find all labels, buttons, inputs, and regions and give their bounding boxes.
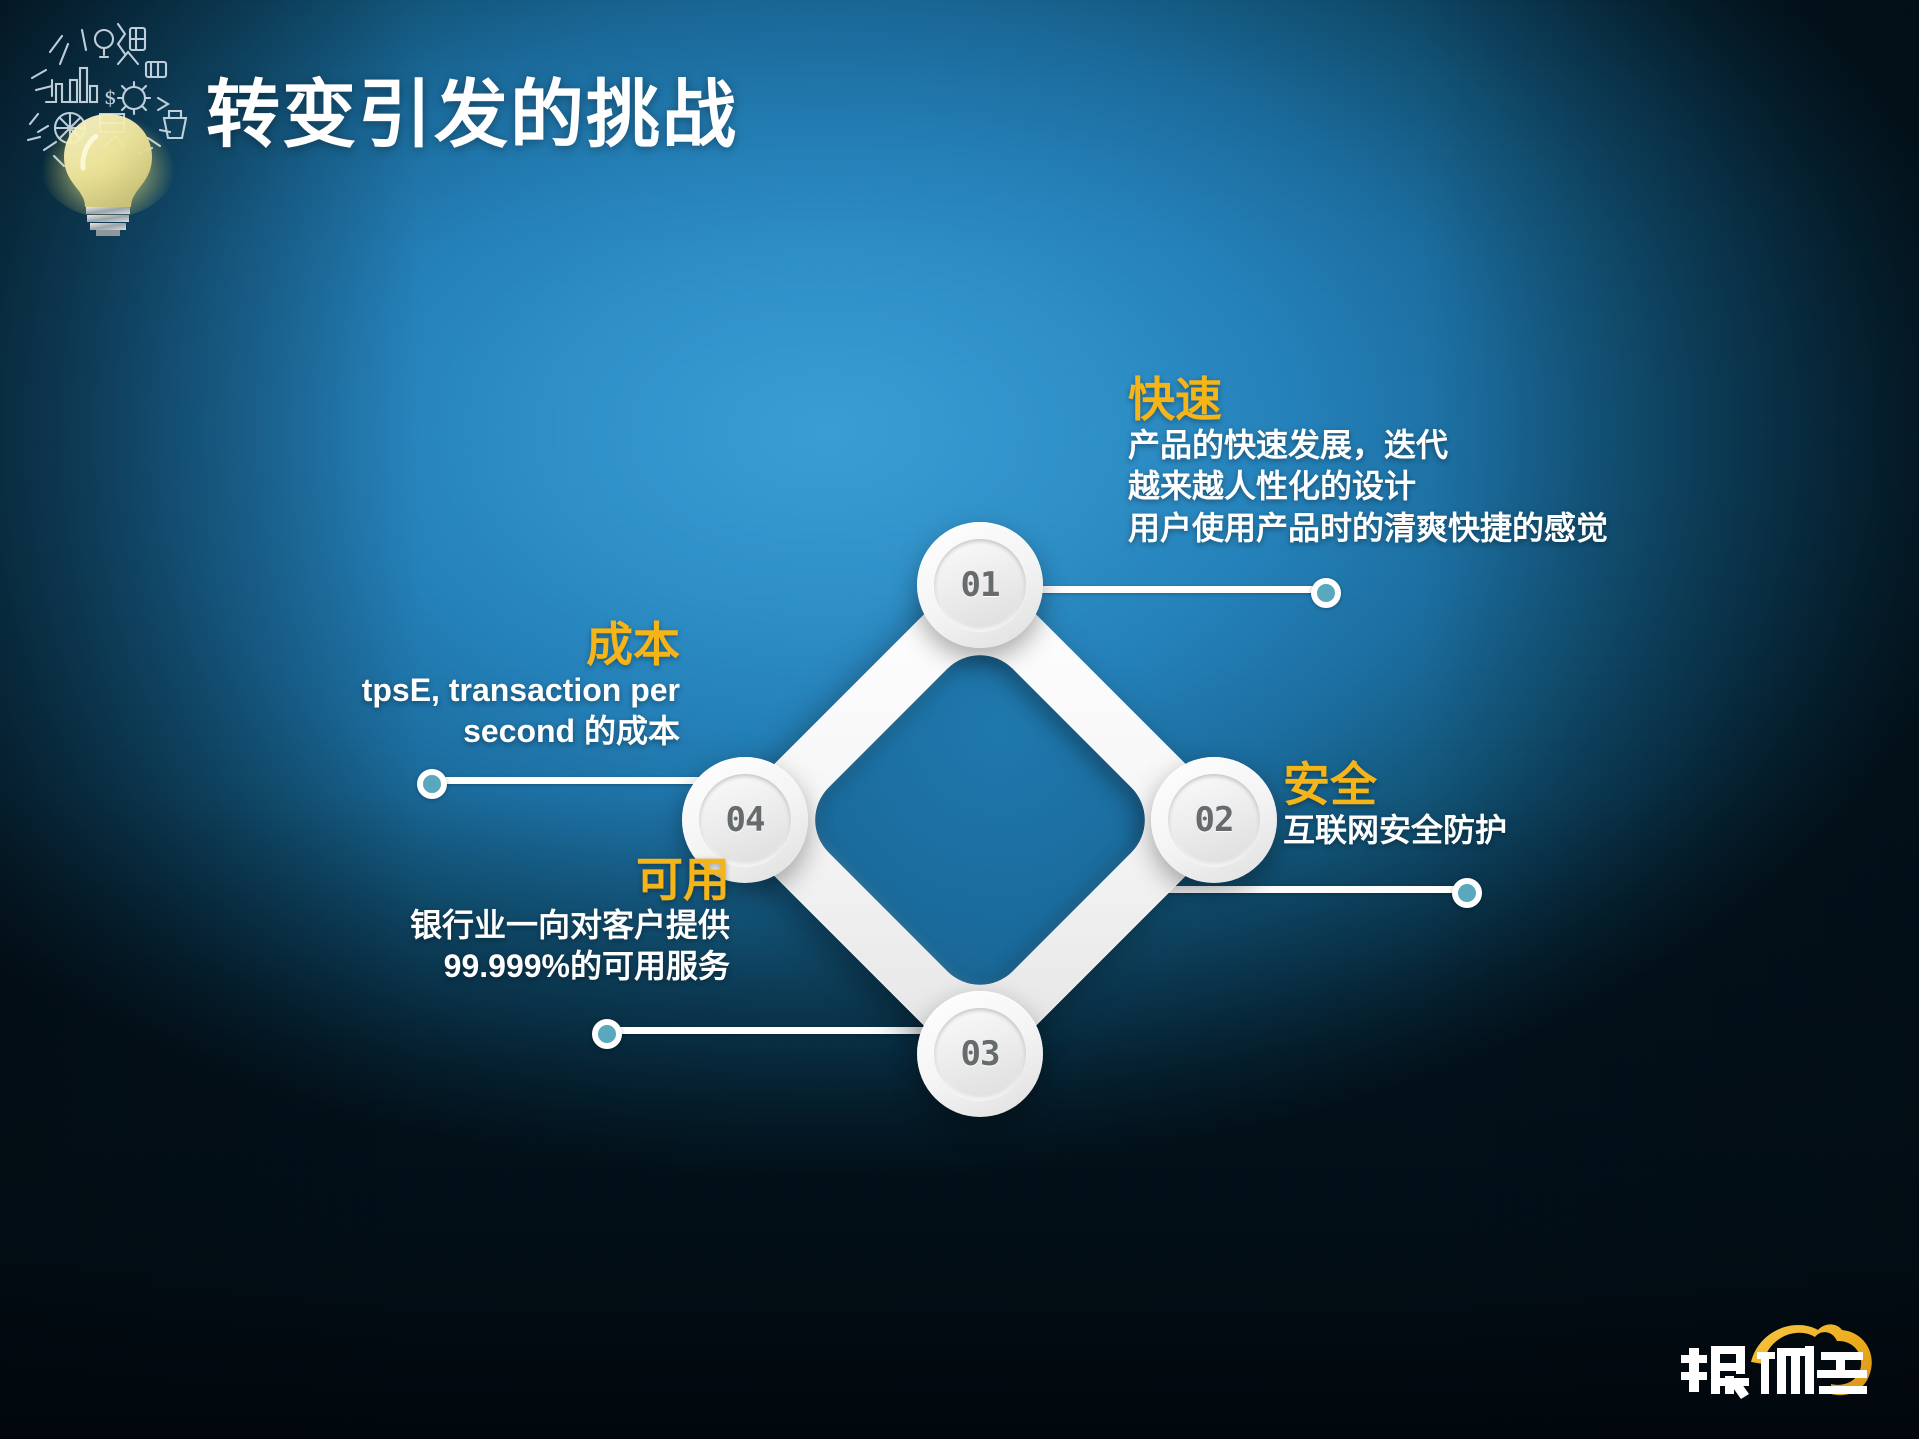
diamond-diagram: 01 02 03 04 <box>700 540 1260 1100</box>
page-title: 转变引发的挑战 <box>206 78 738 152</box>
callout-availability-heading: 可用 <box>210 855 730 905</box>
diagram-node-03-label: 03 <box>961 1034 1000 1074</box>
connector-dot-02 <box>1452 878 1482 908</box>
connector-dot-03 <box>592 1019 622 1049</box>
lightbulb-idea-icon: $ <box>8 6 218 236</box>
diagram-node-02-disc: 02 <box>1168 774 1260 866</box>
diagram-node-01-label: 01 <box>961 565 1000 605</box>
callout-cost: 成本 tpsE, transaction per second 的成本 <box>150 620 680 753</box>
connector-dot-04 <box>417 769 447 799</box>
diagram-node-01-disc: 01 <box>934 539 1026 631</box>
callout-cost-line-1: tpsE, transaction per <box>150 670 680 712</box>
tencent-cloud-logo <box>1673 1318 1888 1413</box>
callout-fast: 快速 产品的快速发展，迭代 越来越人性化的设计 用户使用产品时的清爽快捷的感觉 <box>1128 375 1608 550</box>
callout-security-line-1: 互联网安全防护 <box>1283 810 1507 852</box>
callout-security: 安全 互联网安全防护 <box>1283 760 1507 851</box>
connector-dot-01 <box>1311 578 1341 608</box>
diagram-node-04-label: 04 <box>726 800 765 840</box>
diagram-node-02[interactable]: 02 <box>1151 757 1277 883</box>
callout-availability-line-2: 99.999%的可用服务 <box>210 946 730 988</box>
diagram-node-02-label: 02 <box>1195 800 1234 840</box>
callout-cost-line-2: second 的成本 <box>150 711 680 753</box>
callout-fast-line-3: 用户使用产品时的清爽快捷的感觉 <box>1128 508 1608 550</box>
callout-fast-heading: 快速 <box>1128 375 1608 425</box>
diagram-node-01[interactable]: 01 <box>917 522 1043 648</box>
callout-availability-line-1: 银行业一向对客户提供 <box>210 905 730 947</box>
slide-canvas: $ 转变引发的挑战 <box>0 0 1919 1439</box>
callout-security-heading: 安全 <box>1283 760 1507 810</box>
callout-fast-line-2: 越来越人性化的设计 <box>1128 466 1608 508</box>
callout-fast-line-1: 产品的快速发展，迭代 <box>1128 425 1608 467</box>
diagram-node-03-disc: 03 <box>934 1008 1026 1100</box>
diagram-node-03[interactable]: 03 <box>917 991 1043 1117</box>
page-title-wrapper: 转变引发的挑战 <box>206 78 738 152</box>
callout-cost-heading: 成本 <box>150 620 680 670</box>
callout-availability: 可用 银行业一向对客户提供 99.999%的可用服务 <box>210 855 730 988</box>
